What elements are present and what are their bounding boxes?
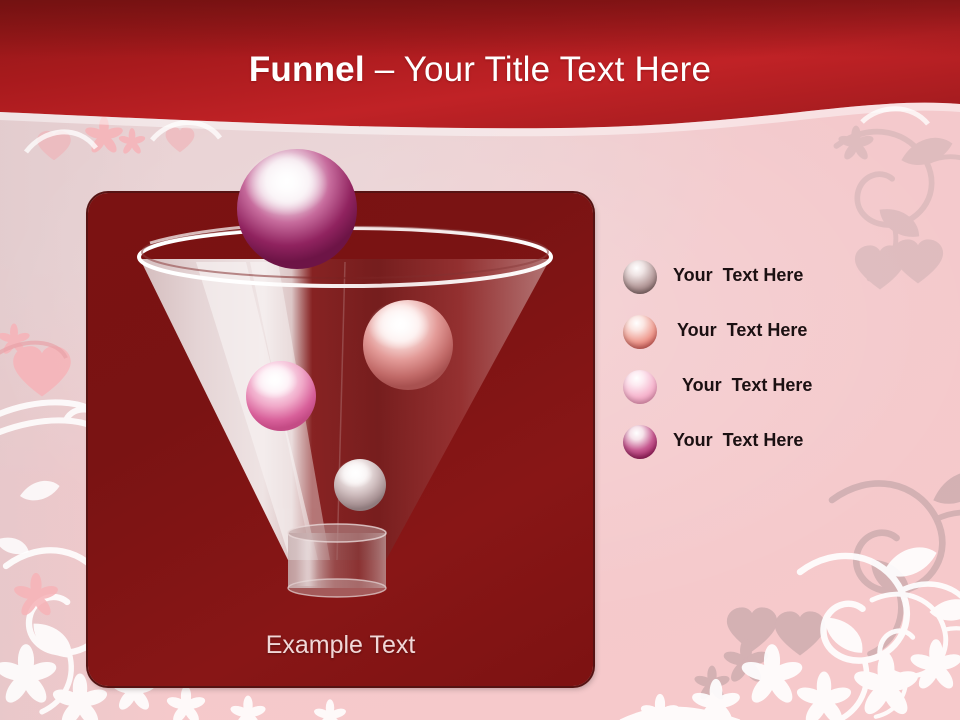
panel-caption: Example Text [88, 633, 593, 658]
legend-item-1[interactable]: Your Text Here [620, 256, 940, 311]
legend-item-2[interactable]: Your Text Here [620, 311, 940, 366]
legend-label-1: Your Text Here [673, 265, 803, 286]
legend-label-2: Your Text Here [677, 320, 807, 341]
page-title: Funnel – Your Title Text Here [0, 52, 960, 87]
arc-label: Your Text Here [195, 126, 405, 206]
legend-item-4[interactable]: Your Text Here [620, 421, 940, 476]
slide-canvas: Funnel – Your Title Text Here Example Te… [0, 0, 960, 720]
arc-label-text: Your Text Here [223, 126, 372, 132]
legend-bullet-4 [623, 425, 657, 459]
legend-bullet-2 [623, 315, 657, 349]
legend-label-4: Your Text Here [673, 430, 803, 451]
legend-label-3: Your Text Here [682, 375, 812, 396]
legend-bullet-1 [623, 260, 657, 294]
legend-item-3[interactable]: Your Text Here [620, 366, 940, 421]
legend: Your Text Here Your Text Here Your Text … [620, 256, 940, 476]
diagram-panel: Example Text [88, 193, 593, 686]
title-bold: Funnel [249, 50, 365, 89]
ornament-left-small [0, 476, 62, 558]
svg-text:Your Text Here: Your Text Here [223, 126, 372, 132]
legend-bullet-3 [623, 370, 657, 404]
title-regular: – Your Title Text Here [365, 50, 711, 89]
